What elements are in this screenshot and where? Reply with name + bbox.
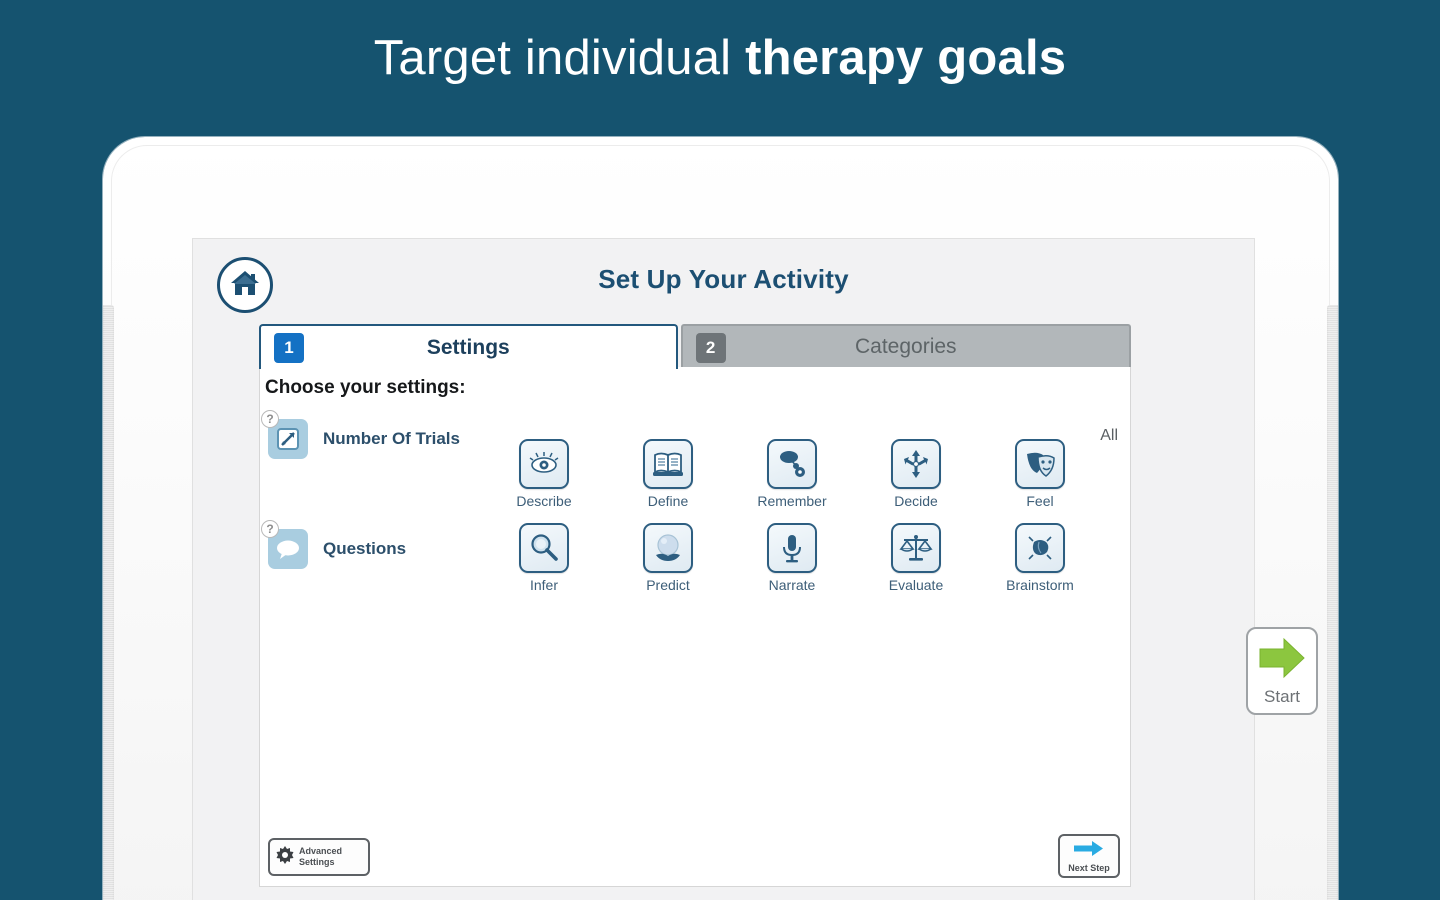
advanced-settings-line2: Settings	[299, 857, 335, 867]
question-item-brainstorm[interactable]: Brainstorm	[978, 523, 1102, 593]
speech-bubble-icon: ?	[268, 529, 308, 569]
tab-settings[interactable]: 1 Settings	[259, 324, 678, 369]
setting-value-number-of-trials[interactable]: All	[1100, 427, 1118, 445]
question-label-infer: Infer	[530, 577, 558, 593]
start-button-label: Start	[1264, 687, 1300, 707]
tablet-right-edge-strip	[1327, 305, 1338, 900]
setting-row-number-of-trials[interactable]: ? Number Of Trials	[268, 419, 460, 459]
scales-icon	[891, 523, 941, 573]
question-label-narrate: Narrate	[769, 577, 816, 593]
question-label-brainstorm: Brainstorm	[1006, 577, 1074, 593]
question-item-predict[interactable]: Predict	[606, 523, 730, 593]
choose-settings-label: Choose your settings:	[265, 377, 466, 399]
advanced-settings-line1: Advanced	[299, 846, 342, 856]
headline-bold-text: therapy goals	[745, 31, 1066, 85]
question-item-infer[interactable]: Infer	[482, 523, 606, 593]
arrow-right-icon	[1074, 840, 1104, 862]
question-item-describe[interactable]: Describe	[482, 439, 606, 509]
tab-categories-label: Categories	[855, 335, 957, 359]
page-headline: Target individual therapy goals	[0, 30, 1440, 86]
next-step-button[interactable]: Next Step	[1058, 834, 1120, 878]
tab-categories[interactable]: 2 Categories	[681, 324, 1131, 369]
setting-row-questions[interactable]: ? Questions	[268, 529, 406, 569]
question-item-decide[interactable]: Decide	[854, 439, 978, 509]
gear-icon	[275, 845, 295, 870]
question-item-narrate[interactable]: Narrate	[730, 523, 854, 593]
question-label-evaluate: Evaluate	[889, 577, 943, 593]
book-icon	[643, 439, 693, 489]
settings-panel: Choose your settings: ? Number Of Trials…	[259, 367, 1131, 887]
setting-label-questions: Questions	[323, 539, 406, 559]
question-label-remember: Remember	[757, 493, 826, 509]
trials-icon: ?	[268, 419, 308, 459]
tablet-device: Set Up Your Activity 1 Settings 2 Catego…	[103, 137, 1338, 900]
magnifier-icon	[519, 523, 569, 573]
page-title: Set Up Your Activity	[193, 264, 1254, 295]
help-icon-questions[interactable]: ?	[261, 520, 279, 538]
question-item-evaluate[interactable]: Evaluate	[854, 523, 978, 593]
eye-icon	[519, 439, 569, 489]
brain-icon	[1015, 523, 1065, 573]
question-label-feel: Feel	[1026, 493, 1053, 509]
tab-bar: 1 Settings 2 Categories	[259, 324, 1131, 369]
headline-light-text: Target individual	[374, 31, 745, 85]
setting-label-number-of-trials: Number Of Trials	[323, 429, 460, 449]
start-button[interactable]: Start	[1246, 627, 1318, 715]
crystal-ball-icon	[643, 523, 693, 573]
question-item-remember[interactable]: Remember	[730, 439, 854, 509]
tab-categories-number: 2	[696, 333, 726, 363]
next-step-label: Next Step	[1068, 863, 1110, 873]
question-label-define: Define	[648, 493, 688, 509]
advanced-settings-label: Advanced Settings	[299, 846, 342, 868]
arrow-right-green-icon	[1257, 636, 1307, 685]
thought-bubble-icon	[767, 439, 817, 489]
tab-settings-number: 1	[274, 333, 304, 363]
question-label-decide: Decide	[894, 493, 938, 509]
arrows-icon	[891, 439, 941, 489]
tablet-left-edge-strip	[103, 305, 114, 900]
question-label-predict: Predict	[646, 577, 690, 593]
question-item-feel[interactable]: Feel	[978, 439, 1102, 509]
theater-masks-icon	[1015, 439, 1065, 489]
tab-settings-label: Settings	[427, 336, 510, 360]
app-header: Set Up Your Activity	[193, 239, 1254, 317]
tablet-screen: Set Up Your Activity 1 Settings 2 Catego…	[192, 238, 1255, 900]
question-label-describe: Describe	[516, 493, 571, 509]
microphone-icon	[767, 523, 817, 573]
help-icon-trials[interactable]: ?	[261, 410, 279, 428]
question-type-grid: Describe Defin	[482, 439, 1102, 593]
advanced-settings-button[interactable]: Advanced Settings	[268, 838, 370, 876]
question-item-define[interactable]: Define	[606, 439, 730, 509]
